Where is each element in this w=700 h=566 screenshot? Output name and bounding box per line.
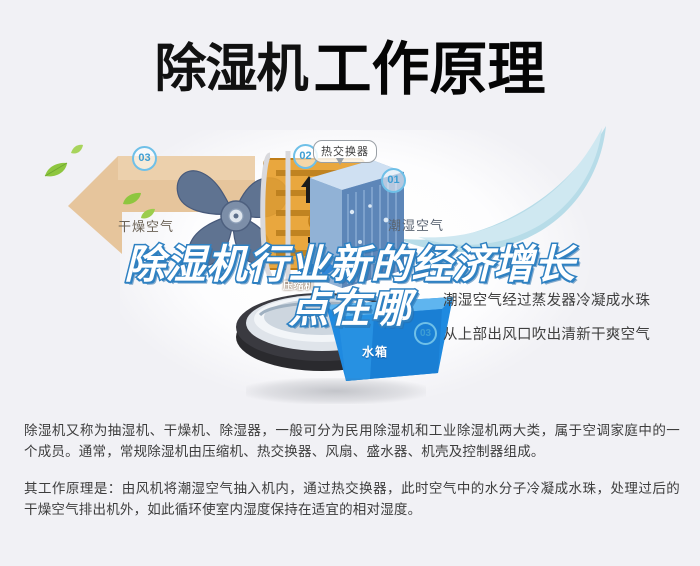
leaf-icon: [122, 192, 142, 206]
body-copy: 除湿机又称为抽湿机、干燥机、除湿器，一般可分为民用除湿机和工业除湿机两大类，属于…: [24, 420, 680, 520]
label-compressor: 压缩机: [283, 277, 315, 292]
callout-tail: [336, 158, 344, 165]
step-note-text: 潮湿空气经过蒸发器冷凝成水珠: [443, 289, 650, 310]
body-paragraph-1: 除湿机又称为抽湿机、干燥机、除湿器，一般可分为民用除湿机和工业除湿机两大类，属于…: [24, 420, 680, 462]
step-notes-list: 02 潮湿空气经过蒸发器冷凝成水珠 03 从上部出风口吹出清新干爽空气: [414, 282, 694, 350]
step-note-badge: 03: [414, 322, 437, 345]
dehumidifier-infographic-page: 除湿机工作原理: [0, 0, 700, 566]
leaf-icon: [44, 162, 68, 178]
badge-step-03-diagram: 03: [132, 146, 157, 171]
label-humid-air: 潮湿空气: [388, 215, 444, 234]
body-paragraph-2: 其工作原理是：由风机将潮湿空气抽入机内，通过热交换器，此时空气中的水分子冷凝成水…: [24, 478, 680, 520]
step-note-text: 从上部出风口吹出清新干爽空气: [443, 323, 650, 344]
machine-drop-shadow: [246, 378, 426, 404]
heat-exchanger-callout: 热交换器: [313, 140, 377, 163]
leaf-icon: [70, 144, 84, 155]
label-dry-air: 干燥空气: [118, 216, 174, 235]
page-title-part-2: 工作原理: [314, 37, 546, 102]
label-water-tank: 水箱: [362, 343, 388, 360]
page-title-part-1: 除湿机: [154, 41, 307, 99]
step-note-row: 02 潮湿空气经过蒸发器冷凝成水珠: [414, 282, 694, 316]
page-title: 除湿机工作原理: [0, 22, 700, 106]
working-principle-illustration: 03 02 01 热交换器 干燥空气 潮湿空气 压缩机 水箱: [0, 120, 700, 410]
badge-step-01-diagram: 01: [381, 168, 406, 193]
step-note-row: 03 从上部出风口吹出清新干爽空气: [414, 316, 694, 350]
